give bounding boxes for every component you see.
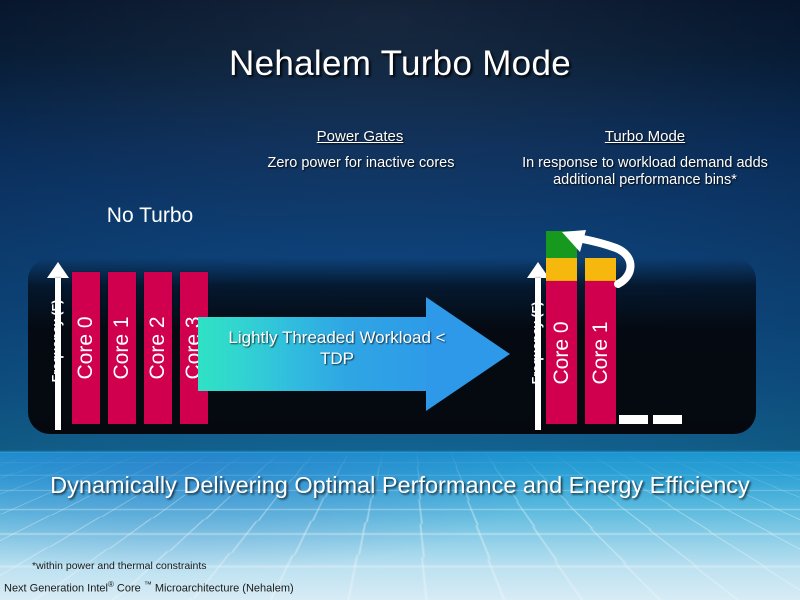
bar-label: Core 2 xyxy=(146,316,170,379)
turbo-mode-description: In response to workload demand adds addi… xyxy=(522,155,768,189)
left-axis-label: Frequency (F) xyxy=(50,276,64,406)
brand-prefix: Next Generation Intel xyxy=(4,583,108,595)
bar-label: Core 1 xyxy=(589,321,613,384)
bar-left-core-0: Core 0 xyxy=(72,272,100,424)
gated-core-stub-2 xyxy=(619,415,648,424)
gated-core-stub-3 xyxy=(653,415,682,424)
bar-left-core-2: Core 2 xyxy=(144,272,172,424)
brand-suffix: Microarchitecture (Nehalem) xyxy=(152,583,294,595)
brand-core: Core xyxy=(114,583,144,595)
bar-label: Core 0 xyxy=(74,316,98,379)
lightly-threaded-workload-arrow: Lightly Threaded Workload < TDP xyxy=(198,297,510,411)
bar-left-core-1: Core 1 xyxy=(108,272,136,424)
right-axis-label: Frequency (F) xyxy=(530,278,544,408)
workload-arrow-label: Lightly Threaded Workload < TDP xyxy=(212,327,462,369)
page-title: Nehalem Turbo Mode xyxy=(0,44,800,84)
slide-tagline: Dynamically Delivering Optimal Performan… xyxy=(20,470,780,501)
footnote-asterisk: *within power and thermal constraints xyxy=(32,560,207,572)
turbo-mode-heading: Turbo Mode xyxy=(530,128,760,145)
slide-canvas: Nehalem Turbo Mode Power Gates Zero powe… xyxy=(0,0,800,600)
no-turbo-caption: No Turbo xyxy=(60,204,240,228)
bar-label: Core 0 xyxy=(550,321,574,384)
bar-right-core-0: Core 0 xyxy=(546,281,577,424)
footnote-brand: Next Generation Intel® Core ™ Microarchi… xyxy=(4,580,294,595)
bar-label: Core 1 xyxy=(110,316,134,379)
trademark-mark-icon: ™ xyxy=(144,580,152,589)
band-edge-divider xyxy=(0,450,800,453)
power-gates-heading: Power Gates xyxy=(250,128,470,145)
bar-right-core-1: Core 1 xyxy=(585,281,616,424)
turbo-boost-curved-arrow-icon xyxy=(556,226,642,292)
power-gates-description: Zero power for inactive cores xyxy=(243,155,479,172)
